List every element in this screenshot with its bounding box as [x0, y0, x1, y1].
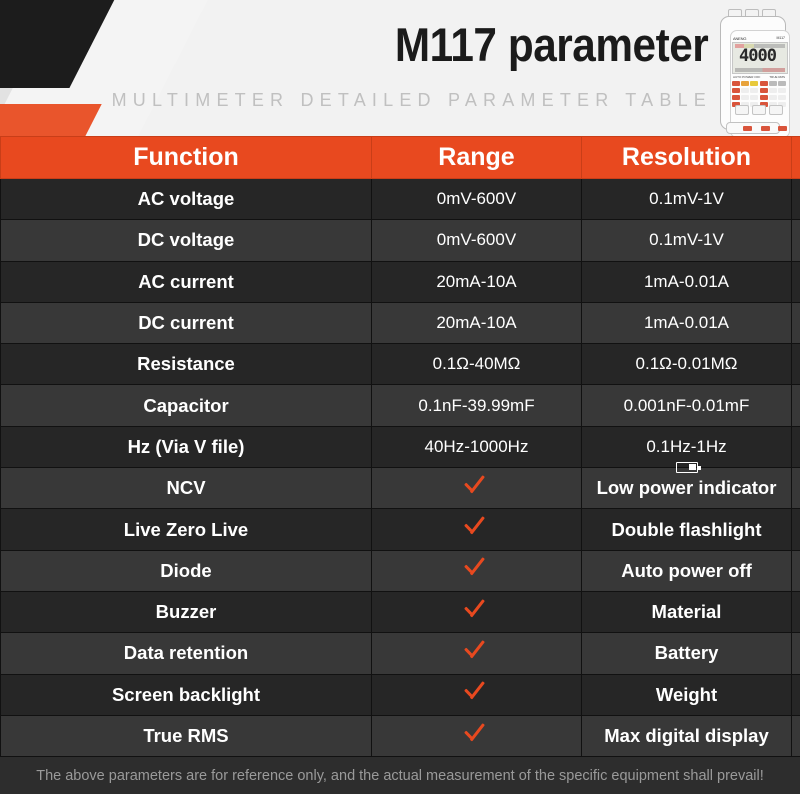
cell-function: Data retention	[1, 633, 372, 674]
resolution-text: Auto power off	[621, 560, 752, 581]
cell-range	[372, 550, 582, 591]
column-header-precision: Precision	[792, 137, 800, 179]
cell-precision: 4000 Counts	[792, 715, 800, 756]
cell-precision: ±(3.0% reading+20 digits)	[792, 385, 800, 426]
device-function-row-3	[732, 95, 786, 100]
cell-resolution: Battery	[582, 633, 792, 674]
function-text: Diode	[160, 560, 211, 581]
cell-function: Hz (Via V file)	[1, 426, 372, 467]
footer-note: The above parameters are for reference o…	[36, 768, 764, 784]
cell-range: 20mA-10A	[372, 302, 582, 343]
function-text: Screen backlight	[112, 684, 260, 705]
cell-range	[372, 509, 582, 550]
column-header-range: Range	[372, 137, 582, 179]
resolution-text: Double flashlight	[611, 519, 761, 540]
resolution-text: 0.1Hz-1Hz	[646, 437, 726, 456]
device-body: ANENG M117 4000 AUTO POWER OFF TRUE RMS	[720, 16, 786, 130]
cell-range	[372, 633, 582, 674]
device-function-row-1	[732, 81, 786, 86]
resolution-text: 0.1mV-1V	[649, 230, 724, 249]
device-function-row-2	[732, 88, 786, 93]
function-text: Capacitor	[143, 395, 228, 416]
resolution-text: Max digital display	[604, 725, 769, 746]
device-brand-label: ANENG	[733, 36, 746, 41]
table-row: Screen backlightWeight116g	[1, 674, 800, 715]
table-row: DC current20mA-10A1mA-0.01A±(1.0% readin…	[1, 302, 800, 343]
cell-precision	[792, 509, 800, 550]
cell-function: Buzzer	[1, 591, 372, 632]
table-row: BuzzerMaterialABS/Silicone	[1, 591, 800, 632]
device-input-jacks-panel	[726, 122, 780, 134]
low-power-indicator-group: Low power indicator	[597, 477, 777, 499]
range-text: 0mV-600V	[437, 230, 516, 249]
cell-precision: 15 minutes later	[792, 550, 800, 591]
function-text: DC current	[138, 312, 234, 333]
cell-function: Diode	[1, 550, 372, 591]
function-text: Data retention	[124, 642, 248, 663]
cell-function: AC voltage	[1, 179, 372, 220]
cell-range	[372, 468, 582, 509]
device-autopower-strip: AUTO POWER OFF TRUE RMS	[733, 75, 785, 79]
cell-function: Resistance	[1, 344, 372, 385]
cell-resolution: 1mA-0.01A	[582, 302, 792, 343]
cell-resolution: 0.1mV-1V	[582, 220, 792, 261]
device-lcd-screen: 4000	[732, 42, 788, 74]
cell-resolution: 1mA-0.01A	[582, 261, 792, 302]
column-header-resolution: Resolution	[582, 137, 792, 179]
check-icon	[462, 723, 492, 745]
cell-precision: ±(1.0% reading+5 digits)	[792, 302, 800, 343]
range-text: 0mV-600V	[437, 189, 516, 208]
cell-range: 0mV-600V	[372, 179, 582, 220]
function-text: AC current	[138, 271, 234, 292]
resolution-text: Battery	[655, 642, 719, 663]
check-icon	[462, 557, 492, 579]
cell-function: Live Zero Live	[1, 509, 372, 550]
range-text: 20mA-10A	[436, 313, 516, 332]
cell-range	[372, 715, 582, 756]
table-row: Live Zero LiveDouble flashlight	[1, 509, 800, 550]
resolution-text: 1mA-0.01A	[644, 272, 729, 291]
cell-precision: ABS/Silicone	[792, 591, 800, 632]
table-body: AC voltage0mV-600V0.1mV-1V±(1% reading+5…	[1, 179, 800, 757]
check-icon	[462, 599, 492, 621]
cell-function: NCV	[1, 468, 372, 509]
device-autopower-right: TRUE RMS	[769, 75, 785, 79]
cell-precision: ±(0.8% reading+5 digits)	[792, 220, 800, 261]
device-autopower-left: AUTO POWER OFF	[733, 75, 760, 79]
function-text: Live Zero Live	[124, 519, 248, 540]
cell-precision: ±(1.0% reading+5 digits)	[792, 426, 800, 467]
function-text: Hz (Via V file)	[128, 436, 245, 457]
function-text: Buzzer	[156, 601, 217, 622]
range-text: 40Hz-1000Hz	[425, 437, 529, 456]
lcd-bottom-annunciators	[735, 68, 785, 72]
page-subtitle: MULTIMETER DETAILED PARAMETER TABLE	[112, 90, 712, 111]
function-text: Resistance	[137, 353, 235, 374]
cell-range: 40Hz-1000Hz	[372, 426, 582, 467]
device-model-label: M117	[777, 36, 786, 40]
lcd-reading: 4000	[739, 48, 776, 65]
device-brand-row: ANENG M117	[733, 35, 785, 41]
cell-function: DC current	[1, 302, 372, 343]
function-text: DC voltage	[138, 229, 235, 250]
cell-function: Screen backlight	[1, 674, 372, 715]
table-row: Resistance0.1Ω-40MΩ0.1Ω-0.01MΩ±(1% readi…	[1, 344, 800, 385]
cell-resolution: Material	[582, 591, 792, 632]
function-text: NCV	[166, 477, 205, 498]
resolution-text: Low power indicator	[597, 477, 777, 498]
cell-range: 0.1Ω-40MΩ	[372, 344, 582, 385]
cell-resolution: 0.1Ω-0.01MΩ	[582, 344, 792, 385]
resolution-text: Weight	[656, 684, 717, 705]
resolution-text: 0.1Ω-0.01MΩ	[636, 354, 738, 373]
device-buttons	[733, 105, 785, 115]
resolution-text: 1mA-0.01A	[644, 313, 729, 332]
header-orange-wedge	[0, 104, 102, 136]
cell-precision: 1.5V AAA Battery*2	[792, 633, 800, 674]
cell-function: Capacitor	[1, 385, 372, 426]
table-row: True RMSMax digital display4000 Counts	[1, 715, 800, 756]
range-text: 0.1nF-39.99mF	[418, 396, 534, 415]
resolution-text: 0.001nF-0.01mF	[624, 396, 750, 415]
check-icon	[462, 640, 492, 662]
table-row: DiodeAuto power off15 minutes later	[1, 550, 800, 591]
cell-precision	[792, 468, 800, 509]
page-header: M117 parameter MULTIMETER DETAILED PARAM…	[0, 0, 800, 136]
cell-resolution: Auto power off	[582, 550, 792, 591]
function-text: True RMS	[143, 725, 228, 746]
table-header-row: Function Range Resolution Precision	[1, 137, 800, 179]
page-title: M117 parameter	[395, 17, 708, 72]
check-icon	[462, 475, 492, 497]
cell-resolution: Max digital display	[582, 715, 792, 756]
table-row: Data retentionBattery1.5V AAA Battery*2	[1, 633, 800, 674]
multimeter-product-photo: ANENG M117 4000 AUTO POWER OFF TRUE RMS	[714, 6, 790, 134]
table-row: AC current20mA-10A1mA-0.01A±(1.0% readin…	[1, 261, 800, 302]
cell-precision: ±(1% reading+5 digits)	[792, 179, 800, 220]
cell-precision: ±(1.0% reading+8 digits)	[792, 261, 800, 302]
cell-range: 0mV-600V	[372, 220, 582, 261]
function-text: AC voltage	[138, 188, 235, 209]
cell-precision: ±(1% reading+5 digits)	[792, 344, 800, 385]
cell-function: AC current	[1, 261, 372, 302]
cell-range	[372, 674, 582, 715]
battery-low-icon	[676, 462, 698, 473]
cell-precision: 116g	[792, 674, 800, 715]
range-text: 0.1Ω-40MΩ	[433, 354, 521, 373]
range-text: 20mA-10A	[436, 272, 516, 291]
check-icon	[462, 516, 492, 538]
table-row: AC voltage0mV-600V0.1mV-1V±(1% reading+5…	[1, 179, 800, 220]
cell-resolution: Low power indicator	[582, 468, 792, 509]
table-row: NCVLow power indicator	[1, 468, 800, 509]
cell-function: DC voltage	[1, 220, 372, 261]
table-row: DC voltage0mV-600V0.1mV-1V±(0.8% reading…	[1, 220, 800, 261]
footer-disclaimer-bar: The above parameters are for reference o…	[0, 757, 800, 794]
cell-resolution: Weight	[582, 674, 792, 715]
column-header-function: Function	[1, 137, 372, 179]
cell-resolution: Double flashlight	[582, 509, 792, 550]
cell-range: 20mA-10A	[372, 261, 582, 302]
resolution-text: 0.1mV-1V	[649, 189, 724, 208]
check-icon	[462, 681, 492, 703]
parameter-table: Function Range Resolution Precision AC v…	[0, 136, 800, 757]
cell-range: 0.1nF-39.99mF	[372, 385, 582, 426]
cell-resolution: 0.1mV-1V	[582, 179, 792, 220]
cell-resolution: 0.001nF-0.01mF	[582, 385, 792, 426]
table-row: Capacitor0.1nF-39.99mF0.001nF-0.01mF±(3.…	[1, 385, 800, 426]
cell-function: True RMS	[1, 715, 372, 756]
resolution-text: Material	[652, 601, 722, 622]
device-input-jacks	[743, 126, 787, 131]
cell-range	[372, 591, 582, 632]
